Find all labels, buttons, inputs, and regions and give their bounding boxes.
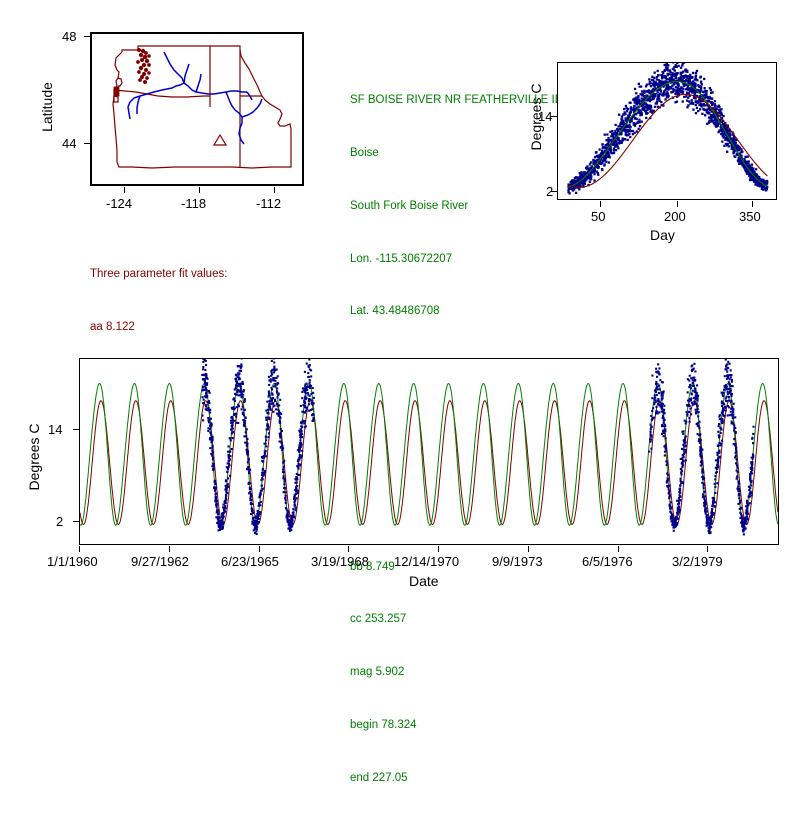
timeseries-xtick-3: 3/19/1968 bbox=[311, 555, 369, 568]
scatter-xtick-350: 350 bbox=[739, 210, 761, 223]
timeseries-xtick-mark-2 bbox=[259, 546, 260, 552]
map-xtick-mark-112 bbox=[274, 187, 275, 193]
scatter-xtick-200: 200 bbox=[664, 210, 686, 223]
timeseries-xtick-7: 3/2/1979 bbox=[672, 555, 723, 568]
timeseries-xtick-2: 6/23/1965 bbox=[221, 555, 279, 568]
six-param-end: end 227.05 bbox=[350, 770, 563, 788]
map-frame bbox=[90, 32, 304, 186]
timeseries-xtick-mark-6 bbox=[618, 546, 619, 552]
timeseries-xtick-mark-7 bbox=[707, 546, 708, 552]
station-lat: Lat. 43.48486708 bbox=[350, 303, 563, 321]
map-xtick-118: -118 bbox=[181, 197, 206, 210]
timeseries-xtick-6: 6/5/1976 bbox=[582, 555, 633, 568]
timeseries-xtick-4: 12/14/1970 bbox=[394, 555, 459, 568]
scatter-xtick-mark-50 bbox=[600, 201, 601, 207]
timeseries-xtick-mark-1 bbox=[169, 546, 170, 552]
timeseries-xtick-0: 1/1/1960 bbox=[47, 555, 98, 568]
scatter-svg bbox=[558, 63, 776, 199]
timeseries-svg bbox=[80, 359, 778, 544]
map-xtick-112: -112 bbox=[256, 197, 281, 210]
map-ytick-44: 44 bbox=[62, 137, 76, 150]
map-ylabel: Latitude bbox=[40, 76, 54, 138]
three-param-heading: Three parameter fit values: bbox=[90, 266, 227, 284]
map-ytick-48: 48 bbox=[62, 30, 76, 43]
three-param-aa: aa 8.122 bbox=[90, 319, 227, 337]
station-marker-triangle bbox=[214, 135, 226, 145]
scatter-xtick-mark-350 bbox=[752, 201, 753, 207]
map-xtick-124: -124 bbox=[106, 197, 132, 210]
figure-canvas: Latitude 48 44 bbox=[0, 0, 792, 611]
timeseries-xtick-5: 9/9/1973 bbox=[492, 555, 543, 568]
six-param-cc: cc 253.257 bbox=[350, 611, 563, 629]
timeseries-xtick-mark-3 bbox=[348, 546, 349, 552]
map-svg bbox=[92, 34, 302, 184]
timeseries-ylabel: Degrees C bbox=[27, 417, 41, 497]
timeseries-xtick-mark-0 bbox=[79, 546, 80, 552]
scatter-xlabel: Day bbox=[650, 228, 675, 242]
map-xtick-mark-124 bbox=[124, 187, 125, 193]
timeseries-xtick-mark-5 bbox=[528, 546, 529, 552]
six-param-begin: begin 78.324 bbox=[350, 717, 563, 735]
scatter-frame bbox=[557, 62, 777, 200]
timeseries-panel: Degrees C 14 2 1/1/1960 9 bbox=[0, 340, 792, 611]
scatter-xtick-mark-200 bbox=[677, 201, 678, 207]
map-xtick-mark-118 bbox=[199, 187, 200, 193]
timeseries-frame bbox=[79, 358, 779, 545]
timeseries-xlabel: Date bbox=[409, 574, 439, 588]
timeseries-xtick-1: 9/27/1962 bbox=[131, 555, 189, 568]
timeseries-ytick-14: 14 bbox=[48, 423, 62, 436]
timeseries-xtick-mark-4 bbox=[438, 546, 439, 552]
scatter-xtick-50: 50 bbox=[591, 210, 605, 223]
timeseries-ytick-2: 2 bbox=[56, 515, 63, 528]
locator-map-panel: Latitude 48 44 bbox=[0, 0, 330, 230]
six-param-mag: mag 5.902 bbox=[350, 664, 563, 682]
annual-cycle-panel: Degrees C 14 2 50 200 350 Day bbox=[505, 40, 792, 255]
